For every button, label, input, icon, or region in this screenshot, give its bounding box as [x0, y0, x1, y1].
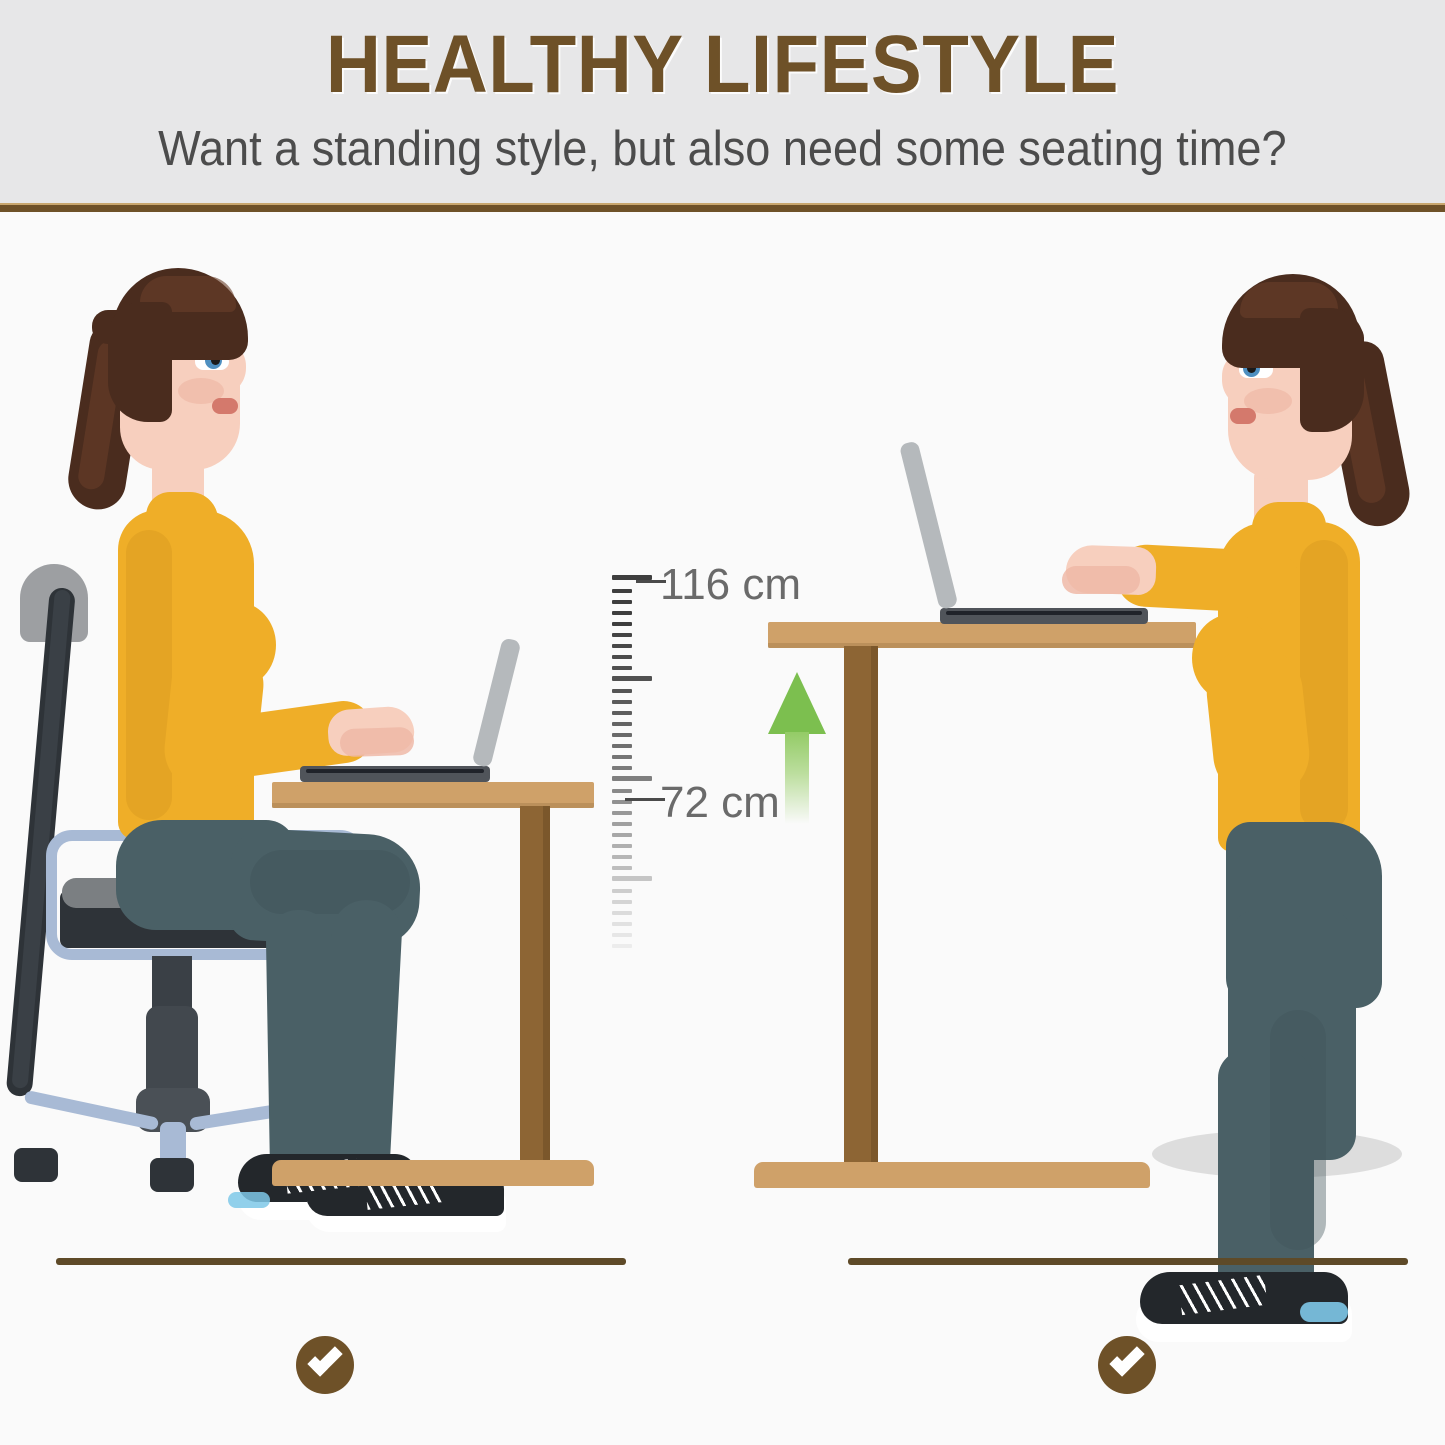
fingers-standing: [1062, 566, 1140, 594]
divider-right: [848, 1258, 1408, 1265]
ruler-tick: [612, 922, 632, 926]
chair-caster-left: [14, 1148, 58, 1182]
thigh-shadow: [250, 850, 410, 914]
hair-side: [108, 302, 172, 422]
ruler-tick: [612, 666, 632, 670]
ruler-tick-major: [612, 876, 652, 881]
shoe-accent: [228, 1192, 270, 1208]
scene-standing: [740, 210, 1445, 1250]
divider-left: [56, 1258, 626, 1265]
laptop-sitting: [300, 652, 490, 782]
ruler-tick: [612, 611, 632, 615]
ruler-tick: [612, 844, 632, 848]
ruler-tick: [612, 711, 632, 715]
ruler-tick: [612, 889, 632, 893]
ruler-tick: [612, 744, 632, 748]
ruler-tick: [612, 911, 632, 915]
ruler-tick: [612, 655, 632, 659]
ruler-tick: [612, 589, 632, 593]
ruler-tick: [612, 700, 632, 704]
infographic-poster: HEALTHY LIFESTYLE Want a standing style,…: [0, 0, 1445, 1445]
laptop-keyboard-standing: [946, 611, 1142, 615]
ruler-tick: [612, 755, 632, 759]
page-subtitle: Want a standing style, but also need som…: [158, 120, 1286, 178]
desk-foot-standing: [754, 1162, 1150, 1188]
laptop-screen-standing: [899, 440, 959, 610]
sweater-shadow: [126, 530, 172, 820]
sweater-shadow-standing: [1300, 540, 1348, 832]
ruler-tick: [612, 722, 632, 726]
check-icon: [1109, 1341, 1144, 1376]
laptop-screen-sitting: [472, 637, 522, 768]
desk-top-sitting: [272, 782, 594, 808]
hair-side-standing: [1300, 308, 1364, 432]
ruler-tick: [612, 822, 632, 826]
ruler-tick: [612, 689, 632, 693]
laptop-keyboard-sitting: [306, 769, 484, 773]
laptop-base-standing: [940, 608, 1148, 624]
scene-sitting: [0, 210, 640, 1250]
ruler-tick: [612, 944, 632, 948]
ruler-leader-bottom: [625, 798, 665, 801]
ruler-tick: [612, 600, 632, 604]
calf-shadow-standing: [1270, 1010, 1326, 1250]
ruler-tick: [612, 833, 632, 837]
ruler-tick: [612, 622, 632, 626]
laptop-standing: [940, 454, 1148, 624]
desk-foot-sitting: [272, 1160, 594, 1186]
ruler-tick: [612, 933, 632, 937]
ruler-tick: [612, 644, 632, 648]
ruler-tick-major: [612, 776, 652, 781]
ruler-tick: [612, 633, 632, 637]
lips-standing: [1230, 408, 1256, 424]
ruler-tick: [612, 789, 632, 793]
ruler-tick: [612, 733, 632, 737]
check-badge-sitting: [296, 1336, 354, 1394]
desk-leg-standing: [844, 646, 878, 1168]
height-ruler: [612, 575, 652, 920]
chair-caster-mid: [150, 1158, 194, 1192]
lips: [212, 398, 238, 414]
shoe-accent-standing: [1300, 1302, 1348, 1322]
ruler-tick: [612, 766, 632, 770]
desk-top-standing: [768, 622, 1196, 648]
header-banner: HEALTHY LIFESTYLE Want a standing style,…: [0, 0, 1445, 205]
ruler-tick: [612, 855, 632, 859]
ruler-tick: [612, 900, 632, 904]
ruler-tick: [612, 866, 632, 870]
laptop-base-sitting: [300, 766, 490, 782]
desk-leg-sitting: [520, 806, 550, 1172]
check-badge-standing: [1098, 1336, 1156, 1394]
ruler-tick: [612, 811, 632, 815]
ruler-tick-major: [612, 676, 652, 681]
check-icon: [307, 1341, 342, 1376]
page-title: HEALTHY LIFESTYLE: [326, 22, 1119, 108]
